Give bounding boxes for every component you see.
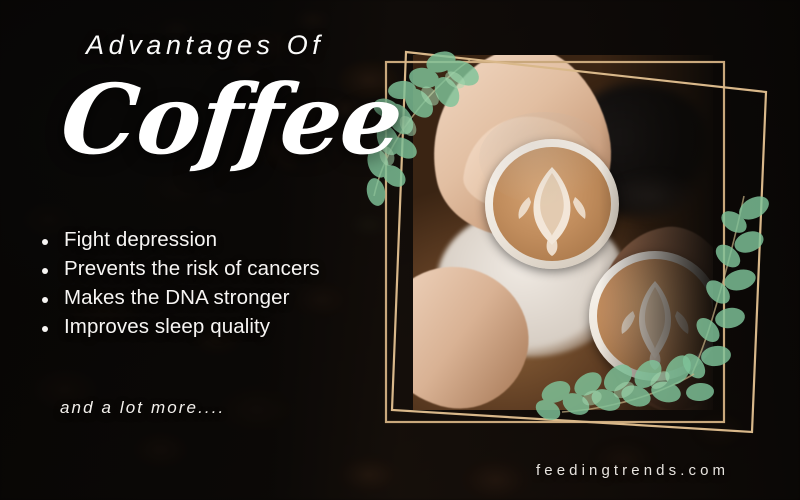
brand-watermark: feedingtrends.com [536,462,729,479]
page-title: Coffee [57,72,406,168]
list-item: Improves sleep quality [36,315,320,339]
blurred-dark-object-secondary [609,173,701,219]
closing-note: and a lot more.... [60,398,225,418]
list-item: Makes the DNA stronger [36,286,320,310]
poster-kicker: Advantages Of [86,30,324,61]
list-item: Prevents the risk of cancers [36,257,320,281]
list-item: Fight depression [36,228,320,252]
tulip-latte-art-icon [589,251,713,381]
text-column: Advantages Of Coffee Fight depression Pr… [0,0,420,500]
benefits-list: Fight depression Prevents the risk of ca… [36,228,320,344]
cappuccino-cup-tulip [589,251,713,381]
coffee-advantages-poster: Advantages Of Coffee Fight depression Pr… [0,0,800,500]
coffee-photo [413,55,713,410]
